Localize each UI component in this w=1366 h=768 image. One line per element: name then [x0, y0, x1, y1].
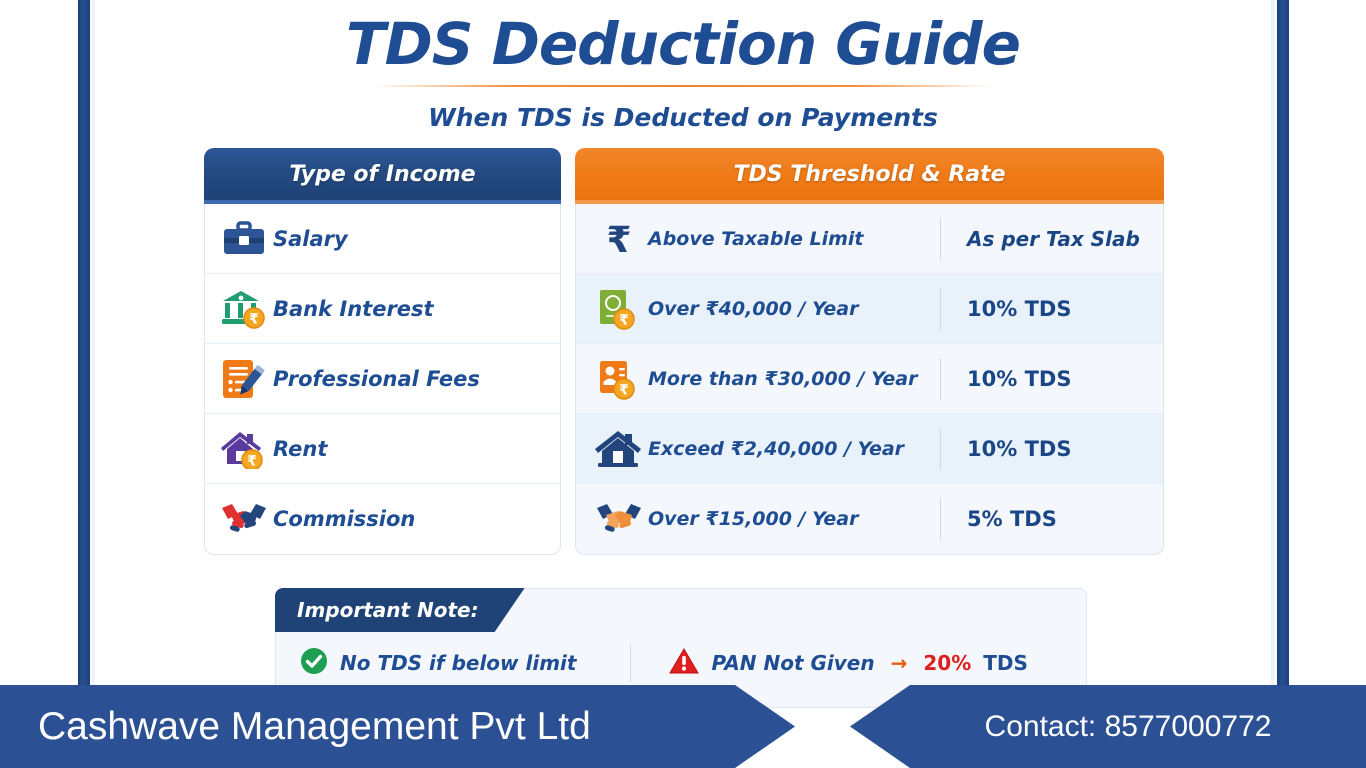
income-column: Type of Income Salary [204, 148, 561, 555]
note-pan-rate: 20% [923, 651, 971, 675]
title-divider [374, 85, 992, 87]
income-label: Salary [273, 227, 348, 251]
arrow-icon: → [891, 651, 908, 675]
warning-triangle-icon [669, 647, 699, 680]
income-label: Professional Fees [273, 367, 480, 391]
note-item-no-tds: No TDS if below limit [300, 647, 576, 680]
note-divider [630, 644, 631, 682]
svg-text:₹: ₹ [247, 453, 257, 469]
rate-label: 10% TDS [967, 297, 1071, 321]
note-pan-prefix: PAN Not Given [711, 651, 874, 675]
footer-contact-text: Contact: 8577000772 [945, 710, 1272, 744]
note-pan-suffix: TDS [983, 651, 1028, 675]
column-header-income: Type of Income [204, 148, 561, 204]
frame-bar-left [78, 0, 90, 700]
threshold-column: TDS Threshold & Rate ₹ Above Taxable Lim… [575, 148, 1164, 555]
income-rows: Salary ₹ [204, 204, 561, 555]
frame-bar-right [1277, 0, 1289, 700]
row-divider [940, 288, 941, 330]
svg-text:₹: ₹ [619, 312, 629, 328]
rate-label: 10% TDS [967, 367, 1071, 391]
threshold-label: More than ₹30,000 / Year [648, 368, 940, 390]
column-header-threshold: TDS Threshold & Rate [575, 148, 1164, 204]
table-row[interactable]: ₹ Over ₹40,000 / Year 10% TDS [576, 274, 1163, 344]
row-divider [940, 498, 941, 540]
row-divider [940, 428, 941, 470]
threshold-label: Over ₹15,000 / Year [648, 508, 940, 530]
threshold-label: Exceed ₹2,40,000 / Year [648, 438, 940, 460]
table-row[interactable]: Professional Fees [205, 344, 560, 414]
check-circle-icon [300, 647, 328, 680]
banknote-coin-icon: ₹ [590, 288, 648, 330]
table-row[interactable]: ₹ Above Taxable Limit As per Tax Slab [576, 204, 1163, 274]
id-card-rupee-icon: ₹ [590, 358, 648, 400]
table-row[interactable]: Commission [205, 484, 560, 554]
bank-coin-icon: ₹ [215, 289, 273, 329]
row-divider [940, 218, 941, 260]
rupee-icon: ₹ [590, 220, 648, 258]
row-divider [940, 358, 941, 400]
table-row[interactable]: Exceed ₹2,40,000 / Year 10% TDS [576, 414, 1163, 484]
svg-text:₹: ₹ [606, 220, 631, 258]
table-row[interactable]: ₹ More than ₹30,000 / Year 10% TDS [576, 344, 1163, 414]
threshold-label: Above Taxable Limit [648, 228, 940, 250]
title-block: TDS Deduction Guide When TDS is Deducted… [95, 8, 1271, 132]
house-coin-icon: ₹ [215, 429, 273, 469]
table-row[interactable]: Salary [205, 204, 560, 274]
handshake-icon [215, 502, 273, 536]
note-tag: Important Note: [275, 588, 525, 632]
income-label: Rent [273, 437, 327, 461]
income-label: Commission [273, 507, 415, 531]
footer-banner: Cashwave Management Pvt Ltd Contact: 857… [0, 685, 1366, 768]
infographic-page: TDS Deduction Guide When TDS is Deducted… [0, 0, 1366, 768]
table-row[interactable]: ₹ Bank Interest [205, 274, 560, 344]
svg-text:₹: ₹ [249, 311, 259, 327]
handshake-orange-icon [590, 502, 648, 536]
house-icon [590, 429, 648, 469]
document-pencil-icon [215, 358, 273, 400]
footer-contact-block: Contact: 8577000772 [850, 685, 1366, 768]
threshold-rows: ₹ Above Taxable Limit As per Tax Slab [575, 204, 1164, 555]
page-title: TDS Deduction Guide [95, 8, 1271, 81]
note-items: No TDS if below limit PAN Not Given → 20… [276, 635, 1086, 691]
note-item-pan: PAN Not Given → 20% TDS [669, 647, 1027, 680]
threshold-label: Over ₹40,000 / Year [648, 298, 940, 320]
footer-company-block: Cashwave Management Pvt Ltd [0, 685, 795, 768]
tds-table: Type of Income Salary [204, 148, 1164, 568]
rate-label: 10% TDS [967, 437, 1071, 461]
rate-label: As per Tax Slab [967, 227, 1140, 251]
table-row[interactable]: Over ₹15,000 / Year 5% TDS [576, 484, 1163, 554]
page-subtitle: When TDS is Deducted on Payments [95, 103, 1271, 132]
table-row[interactable]: ₹ Rent [205, 414, 560, 484]
frame-hairline-right [1271, 0, 1274, 700]
rate-label: 5% TDS [967, 507, 1057, 531]
note-item-label: No TDS if below limit [340, 651, 576, 675]
income-label: Bank Interest [273, 297, 434, 321]
briefcase-icon [215, 221, 273, 257]
svg-text:₹: ₹ [619, 382, 629, 398]
footer-company-name: Cashwave Management Pvt Ltd [38, 705, 591, 749]
